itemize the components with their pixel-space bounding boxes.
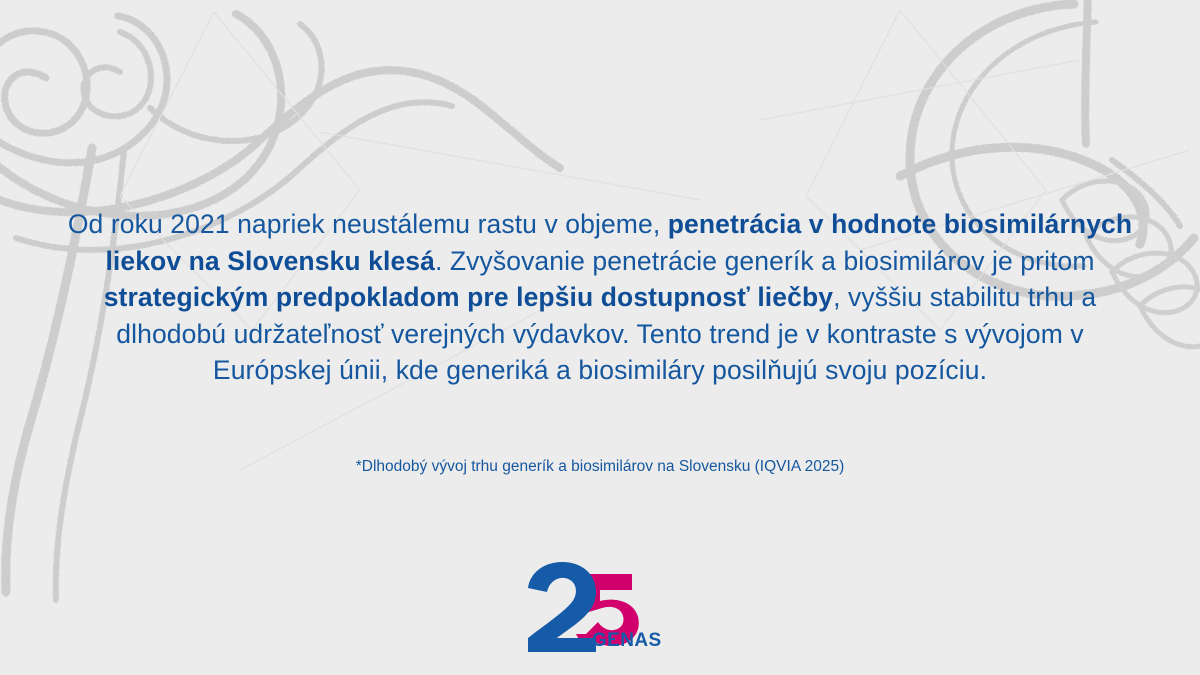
slide-canvas: Od roku 2021 napriek neustálemu rastu v … [0, 0, 1200, 675]
genas-logo: GENAS [520, 560, 680, 652]
logo-wordmark-text: GENAS [592, 630, 662, 651]
headline-text: Od roku 2021 napriek neustálemu rastu v … [68, 209, 668, 239]
logo-accent-dot [615, 636, 620, 641]
headline-text: . Zvyšovanie penetrácie generík a biosim… [435, 246, 1095, 276]
headline-emphasis: strategickým predpokladom pre lepšiu dos… [104, 282, 833, 312]
logo-digit-2-shape [528, 562, 596, 652]
headline-statement: Od roku 2021 napriek neustálemu rastu v … [60, 206, 1140, 389]
source-footnote: *Dlhodobý vývoj trhu generík a biosimilá… [100, 457, 1100, 477]
